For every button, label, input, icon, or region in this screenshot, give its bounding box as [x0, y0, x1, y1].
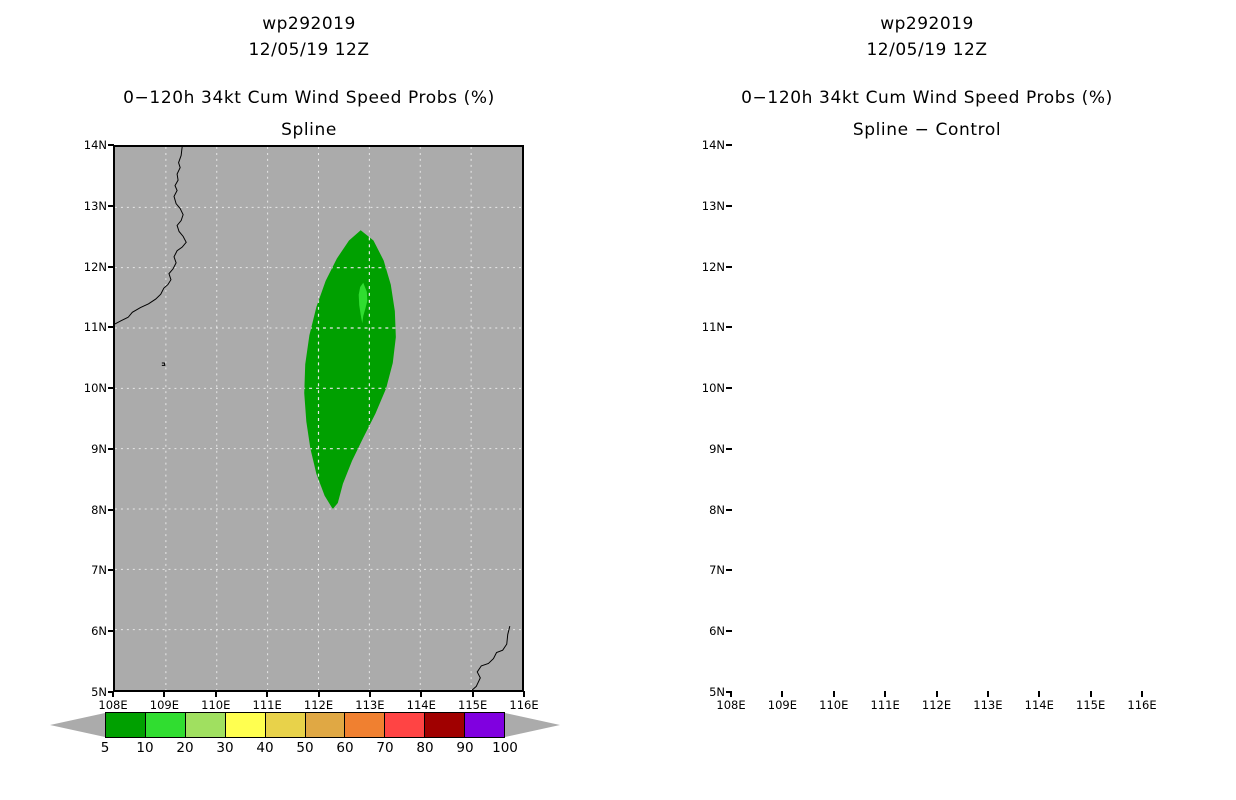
gridlines-over-fill: [115, 147, 522, 690]
x-axis-tick-mark: [987, 691, 989, 697]
x-axis-tick-mark: [1038, 691, 1040, 697]
colorbar-swatch: [145, 713, 185, 737]
x-axis-tick-label: 108E: [716, 698, 745, 712]
colorbar-tick-label: 5: [101, 740, 110, 756]
x-axis-tick-label: 115E: [1076, 698, 1105, 712]
y-axis-tick-label: 7N: [71, 563, 107, 577]
colorbar-tick-label: 40: [256, 740, 273, 756]
y-axis-tick-mark: [108, 509, 114, 511]
y-axis-tick-mark: [726, 509, 732, 511]
x-axis-tick-mark: [833, 691, 835, 697]
y-axis-tick-label: 6N: [71, 624, 107, 638]
x-axis-tick-mark: [215, 691, 217, 697]
colorbar-left-row: [50, 712, 560, 738]
y-axis-tick-label: 9N: [71, 442, 107, 456]
x-axis-tick-mark: [112, 691, 114, 697]
colorbar-left-cap-low: [50, 712, 105, 738]
y-axis-tick-label: 6N: [689, 624, 725, 638]
x-axis-tick-label: 116E: [1127, 698, 1156, 712]
y-axis-tick-label: 14N: [689, 138, 725, 152]
y-axis-tick-mark: [108, 448, 114, 450]
x-axis-tick-label: 111E: [253, 698, 282, 712]
colorbar-tick-label: 60: [336, 740, 353, 756]
panel-spline-minus-control: wp292019 12/05/19 12Z 0−120h 34kt Cum Wi…: [618, 0, 1236, 800]
y-axis-tick-label: 8N: [71, 503, 107, 517]
x-axis-tick-mark: [369, 691, 371, 697]
storm-id-right: wp292019: [618, 14, 1236, 34]
y-axis-tick-mark: [726, 266, 732, 268]
colorbar-left-ticks: 5102030405060708090100: [50, 740, 560, 764]
x-axis-tick-label: 110E: [819, 698, 848, 712]
map-plot-spline: [113, 145, 524, 692]
y-axis-tick-mark: [108, 144, 114, 146]
colorbar-tick-label: 10: [136, 740, 153, 756]
y-axis-tick-mark: [108, 569, 114, 571]
x-axis-tick-label: 110E: [201, 698, 230, 712]
x-axis-tick-label: 112E: [304, 698, 333, 712]
x-axis-tick-mark: [266, 691, 268, 697]
coastline: [472, 626, 510, 690]
y-axis-tick-label: 11N: [71, 320, 107, 334]
y-axis-tick-mark: [108, 387, 114, 389]
colorbar-swatch: [424, 713, 464, 737]
x-axis-tick-label: 109E: [768, 698, 797, 712]
forecast-date-right: 12/05/19 12Z: [618, 40, 1236, 60]
x-axis-tick-label: 114E: [407, 698, 436, 712]
colorbar-tick-label: 90: [456, 740, 473, 756]
x-axis-tick-mark: [420, 691, 422, 697]
y-axis-tick-mark: [108, 266, 114, 268]
x-axis-tick-mark: [1141, 691, 1143, 697]
storm-id-left: wp292019: [0, 14, 618, 34]
colorbar-swatch: [344, 713, 384, 737]
panel-spline: wp292019 12/05/19 12Z 0−120h 34kt Cum Wi…: [0, 0, 618, 800]
x-axis-tick-label: 109E: [150, 698, 179, 712]
y-axis-tick-mark: [726, 326, 732, 328]
colorbar-left-cap-high: [505, 712, 560, 738]
colorbar-tick-label: 30: [216, 740, 233, 756]
colorbar-swatch: [225, 713, 265, 737]
colorbar-swatch: [106, 713, 145, 737]
x-axis-tick-label: 113E: [973, 698, 1002, 712]
y-axis-tick-label: 9N: [689, 442, 725, 456]
y-axis-tick-label: 5N: [689, 685, 725, 699]
y-axis-tick-label: 12N: [689, 260, 725, 274]
x-axis-tick-label: 114E: [1025, 698, 1054, 712]
colorbar-tick-label: 80: [416, 740, 433, 756]
y-axis-tick-label: 14N: [71, 138, 107, 152]
forecast-date-left: 12/05/19 12Z: [0, 40, 618, 60]
y-axis-tick-label: 7N: [689, 563, 725, 577]
colorbar-tick-label: 100: [492, 740, 518, 756]
x-axis-tick-label: 111E: [871, 698, 900, 712]
x-axis-tick-mark: [884, 691, 886, 697]
x-axis-tick-label: 112E: [922, 698, 951, 712]
y-axis-tick-label: 11N: [689, 320, 725, 334]
x-axis-tick-label: 115E: [458, 698, 487, 712]
x-axis-tick-mark: [781, 691, 783, 697]
main-title-left: 0−120h 34kt Cum Wind Speed Probs (%): [0, 88, 618, 108]
y-axis-tick-label: 13N: [71, 199, 107, 213]
y-axis-tick-label: 8N: [689, 503, 725, 517]
y-axis-tick-mark: [726, 448, 732, 450]
map-canvas-left: [115, 147, 522, 690]
colorbar-probability: 5102030405060708090100: [50, 712, 560, 772]
x-axis-tick-label: 113E: [355, 698, 384, 712]
colorbar-tick-label: 20: [176, 740, 193, 756]
y-axis-tick-mark: [726, 205, 732, 207]
colorbar-swatch: [185, 713, 225, 737]
y-axis-tick-label: 13N: [689, 199, 725, 213]
colorbar-swatch: [265, 713, 305, 737]
y-axis-tick-label: 12N: [71, 260, 107, 274]
x-axis-tick-mark: [318, 691, 320, 697]
coastline: [115, 147, 186, 341]
colorbar-swatch: [384, 713, 424, 737]
y-axis-tick-mark: [108, 205, 114, 207]
y-axis-tick-mark: [726, 569, 732, 571]
colorbar-swatch: [464, 713, 504, 737]
x-axis-tick-mark: [163, 691, 165, 697]
y-axis-tick-mark: [108, 326, 114, 328]
colorbar-tick-label: 70: [376, 740, 393, 756]
colorbar-left-cells: [105, 712, 505, 738]
y-axis-tick-mark: [726, 144, 732, 146]
x-axis-tick-mark: [730, 691, 732, 697]
y-axis-tick-mark: [108, 630, 114, 632]
y-axis-tick-label: 10N: [71, 381, 107, 395]
sub-title-left: Spline: [0, 120, 618, 140]
y-axis-tick-mark: [726, 630, 732, 632]
y-axis-tick-label: 5N: [71, 685, 107, 699]
x-axis-tick-mark: [472, 691, 474, 697]
x-axis-tick-label: 116E: [509, 698, 538, 712]
colorbar-tick-label: 50: [296, 740, 313, 756]
y-axis-tick-mark: [726, 387, 732, 389]
coastline: [162, 363, 165, 365]
x-axis-tick-mark: [1090, 691, 1092, 697]
map-frame-left: [113, 145, 524, 692]
y-axis-tick-label: 10N: [689, 381, 725, 395]
x-axis-tick-mark: [523, 691, 525, 697]
main-title-right: 0−120h 34kt Cum Wind Speed Probs (%): [618, 88, 1236, 108]
x-axis-tick-label: 108E: [98, 698, 127, 712]
colorbar-swatch: [305, 713, 345, 737]
x-axis-tick-mark: [936, 691, 938, 697]
sub-title-right: Spline − Control: [618, 120, 1236, 140]
